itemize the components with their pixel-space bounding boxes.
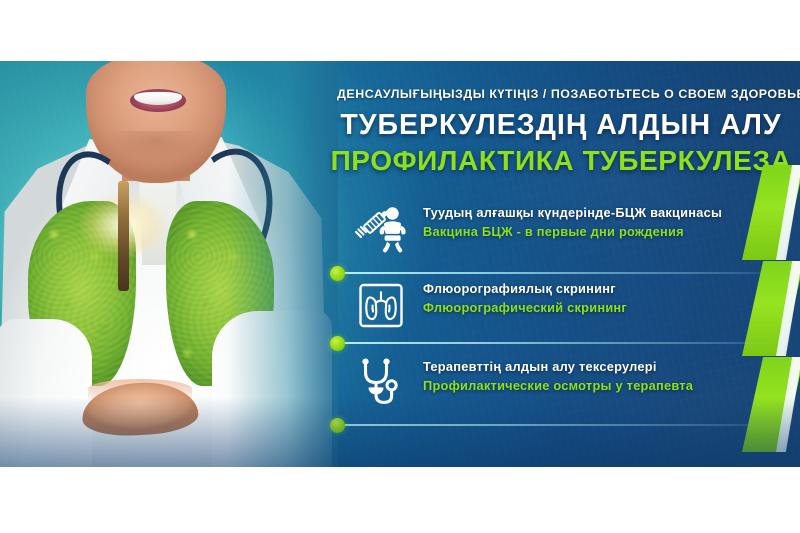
separator-dot (330, 336, 345, 351)
item-2-line-russian: Флюорографический скрининг (423, 298, 627, 317)
prevention-item-1-text: Туудың алғашқы күндерінде-БЦЖ вакцинасы … (423, 203, 722, 241)
separator-line (344, 342, 784, 344)
separator-line (344, 424, 784, 426)
lungs-xray-icon (352, 279, 410, 333)
tree-trunk (118, 181, 129, 291)
banner-title-russian: ПРОФИЛАКТИКА ТУБЕРКУЛЕЗА (330, 145, 792, 177)
separator-3 (330, 418, 800, 432)
banner-content: ДЕНСАУЛЫҒЫҢЫЗДЫ КҮТІҢІЗ / ПОЗАБОТЬТЕСЬ О… (330, 61, 800, 467)
item-2-line-kazakh: Флюорографиялық скрининг (423, 279, 627, 298)
stethoscope-icon (352, 357, 410, 411)
coat-sleeve-left (0, 319, 92, 467)
separator-line (344, 272, 784, 274)
banner-title-kazakh: ТУБЕРКУЛЕЗДІҢ АЛДЫН АЛУ (330, 109, 792, 142)
item-1-line-kazakh: Туудың алғашқы күндерінде-БЦЖ вакцинасы (423, 203, 722, 222)
syringe-baby-icon (352, 203, 410, 257)
prevention-item-2: Флюорографиялық скрининг Флюорографическ… (330, 275, 800, 341)
item-3-line-russian: Профилактические осмотры у терапевта (423, 376, 693, 395)
item-3-line-kazakh: Терапевттің алдын алу тексерулері (423, 357, 693, 376)
banner-kicker: ДЕНСАУЛЫҒЫҢЫЗДЫ КҮТІҢІЗ / ПОЗАБОТЬТЕСЬ О… (337, 87, 792, 101)
item-1-line-russian: Вакцина БЦЖ - в первые дни рождения (423, 222, 722, 241)
photo-edge-fade (228, 61, 338, 467)
prevention-item-3: Терапевттің алдын алу тексерулері Профил… (330, 353, 800, 419)
tuberculosis-prevention-banner: ДЕНСАУЛЫҒЫҢЫЗДЫ КҮТІҢІЗ / ПОЗАБОТЬТЕСЬ О… (0, 61, 800, 467)
screenshot-root: ДЕНСАУЛЫҒЫҢЫЗДЫ КҮТІҢІЗ / ПОЗАБОТЬТЕСЬ О… (0, 0, 800, 533)
prevention-item-2-text: Флюорографиялық скрининг Флюорографическ… (423, 279, 627, 317)
doctor-photo (0, 61, 330, 467)
prevention-item-3-text: Терапевттің алдын алу тексерулері Профил… (423, 357, 693, 395)
separator-2 (330, 336, 800, 350)
prevention-item-1: Туудың алғашқы күндерінде-БЦЖ вакцинасы … (330, 199, 800, 265)
separator-dot (330, 418, 345, 433)
